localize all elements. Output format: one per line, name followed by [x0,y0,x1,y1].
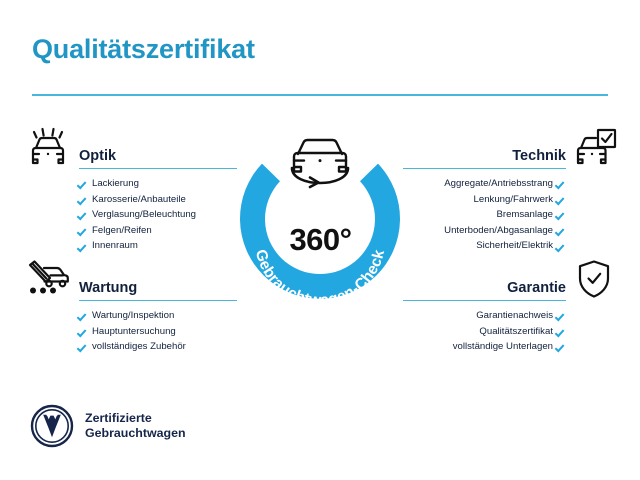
section-header-wartung: Wartung [22,258,237,304]
checklist-wrap-wartung: Wartung/Inspektion Hauptuntersuchung vol… [22,308,237,355]
check-icon [79,327,88,336]
list-item: Wartung/Inspektion [22,308,237,324]
section-technik: Technik Aggregate/Antriebsstrang Lenkung… [403,126,618,254]
badge-graphic: Gebrauchtwagen-Check [233,118,408,308]
check-icon [557,226,566,235]
section-wartung: Wartung Wartung/Inspektion Hauptuntersuc… [22,258,237,355]
car-checkbox-icon [570,126,618,168]
section-title-technik: Technik [512,148,566,164]
section-divider-technik [403,168,566,170]
check-icon [557,242,566,251]
list-item-label: Karosserie/Anbauteile [92,192,186,208]
shield-check-icon [570,258,618,300]
check-icon [557,179,566,188]
checklist-wrap-garantie: Garantienachweis Qualitätszertifikat vol… [403,308,618,355]
list-item-label: Sicherheit/Elektrik [476,238,553,254]
list-item-label: Wartung/Inspektion [92,308,174,324]
list-item-label: Aggregate/Antriebsstrang [444,176,553,192]
check-icon [557,327,566,336]
section-title-wartung: Wartung [79,280,137,296]
check-icon [79,342,88,351]
list-item: Hauptuntersuchung [22,324,237,340]
wrench-car-icon [24,258,72,300]
section-divider-optik [79,168,237,170]
section-header-optik: Optik [22,126,237,172]
list-item: vollständige Unterlagen [403,339,618,355]
list-item: Innenraum [22,238,237,254]
section-optik: Optik Lackierung Karosserie/Anbauteile V… [22,126,237,254]
check-icon [557,342,566,351]
section-title-optik: Optik [79,148,116,164]
list-item-label: Qualitätszertifikat [479,324,553,340]
certificate-page: Qualitätszertifikat Optik [0,0,640,480]
car-rotate-icon [292,140,348,187]
checklist-technik: Aggregate/Antriebsstrang Lenkung/Fahrwer… [403,176,618,254]
list-item-label: Garantienachweis [476,308,553,324]
list-item-label: Hauptuntersuchung [92,324,176,340]
check-icon [79,179,88,188]
check-icon [79,195,88,204]
list-item-label: Lackierung [92,176,139,192]
list-item: Garantienachweis [403,308,618,324]
checklist-wrap-optik: Lackierung Karosserie/Anbauteile Verglas… [22,176,237,254]
footer-line-2: Gebrauchtwagen [85,426,186,440]
section-header-garantie: Garantie [403,258,618,304]
list-item-label: Unterboden/Abgasanlage [444,223,553,239]
list-item: vollständiges Zubehör [22,339,237,355]
checklist-wrap-technik: Aggregate/Antriebsstrang Lenkung/Fahrwer… [403,176,618,254]
checklist-optik: Lackierung Karosserie/Anbauteile Verglas… [22,176,237,254]
footer-text: Zertifizierte Gebrauchtwagen [85,411,186,441]
vw-certified-lockup: Zertifizierte Gebrauchtwagen [30,404,186,448]
list-item-label: Innenraum [92,238,138,254]
list-item: Lenkung/Fahrwerk [403,192,618,208]
list-item-label: vollständige Unterlagen [453,339,553,355]
list-item: Aggregate/Antriebsstrang [403,176,618,192]
check-icon [79,311,88,320]
page-title: Qualitätszertifikat [32,34,255,65]
list-item: Unterboden/Abgasanlage [403,223,618,239]
check-icon [79,226,88,235]
list-item: Qualitätszertifikat [403,324,618,340]
check-icon [557,311,566,320]
badge-degrees: 360° [233,222,408,258]
list-item-label: Felgen/Reifen [92,223,152,239]
list-item-label: Verglasung/Beleuchtung [92,207,196,223]
section-title-garantie: Garantie [507,280,566,296]
vw-logo [30,404,74,448]
check-icon [79,242,88,251]
list-item-label: vollständiges Zubehör [92,339,186,355]
list-item: Lackierung [22,176,237,192]
check-icon [557,210,566,219]
checklist-garantie: Garantienachweis Qualitätszertifikat vol… [403,308,618,355]
list-item: Karosserie/Anbauteile [22,192,237,208]
list-item-label: Bremsanlage [496,207,553,223]
section-divider-garantie [403,300,566,302]
360-check-badge: Gebrauchtwagen-Check 360° [233,118,408,308]
title-divider [32,94,608,96]
list-item-label: Lenkung/Fahrwerk [474,192,553,208]
check-icon [79,210,88,219]
checklist-wartung: Wartung/Inspektion Hauptuntersuchung vol… [22,308,237,355]
section-garantie: Garantie Garantienachweis Qualitätszerti… [403,258,618,355]
list-item: Bremsanlage [403,207,618,223]
list-item: Verglasung/Beleuchtung [22,207,237,223]
section-divider-wartung [79,300,237,302]
check-icon [557,195,566,204]
list-item: Felgen/Reifen [22,223,237,239]
section-header-technik: Technik [403,126,618,172]
car-front-shine-icon [24,126,72,168]
list-item: Sicherheit/Elektrik [403,238,618,254]
footer-line-1: Zertifizierte [85,411,152,425]
